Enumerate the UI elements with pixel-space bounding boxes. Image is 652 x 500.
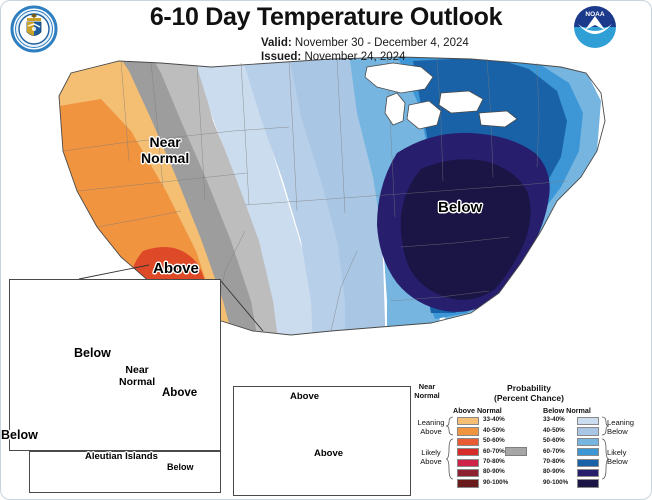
legend-swatch-below-50to60 — [577, 438, 599, 446]
hawaii-above-label-2: Above — [314, 448, 343, 459]
alaska-inset-frame — [9, 279, 221, 451]
legend-range-above-3: 60-70% — [483, 448, 505, 455]
likely-above-line-2: Above — [420, 457, 442, 466]
hawaii-inset-frame — [233, 386, 411, 496]
near-normal-line-1: Near — [150, 134, 181, 150]
legend-range-below-1: 40-50% — [543, 427, 565, 434]
legend-swatch-below-80to90 — [577, 469, 599, 477]
legend-swatch-above-40to50 — [457, 427, 479, 435]
alaska-near-normal-label: Near Normal — [119, 365, 155, 388]
legend-title: Probability (Percent Chance) — [409, 383, 649, 403]
legend-range-above-2: 50-60% — [483, 437, 505, 444]
legend-range-below-3: 60-70% — [543, 448, 565, 455]
leaning-above-line-2: Above — [420, 427, 442, 436]
legend-near-normal-swatch — [505, 447, 527, 456]
outlook-map-page: Near Normal Above Below Below Near Norma… — [0, 0, 652, 500]
legend-range-below-6: 90-100% — [543, 479, 568, 486]
alaska-panhandle-below-label: Below — [1, 428, 38, 442]
legend-swatch-above-90to100 — [457, 479, 479, 487]
band-below-90-100 — [401, 159, 531, 300]
legend-title-line-1: Probability — [507, 383, 551, 393]
legend-range-above-5: 80-90% — [483, 468, 505, 475]
near-normal-line-2: Normal — [141, 150, 189, 166]
aleutian-islands-title: Aleutian Islands — [85, 451, 158, 462]
svg-text:NOAA: NOAA — [585, 11, 604, 18]
hawaii-above-label-1: Above — [290, 391, 319, 402]
legend-swatch-above-33to40 — [457, 417, 479, 425]
legend-swatch-below-33to40 — [577, 417, 599, 425]
legend-likely-below-label: Likely Below — [607, 449, 649, 466]
legend-swatch-above-80to90 — [457, 469, 479, 477]
legend-range-above-4: 70-80% — [483, 458, 505, 465]
legend-likely-above-label: Likely Above — [411, 449, 451, 466]
leaning-below-line-2: Below — [607, 427, 628, 436]
legend-swatch-above-50to60 — [457, 438, 479, 446]
conus-near-normal-label: Near Normal — [141, 134, 189, 166]
legend-range-below-4: 70-80% — [543, 458, 565, 465]
nws-seal-icon — [10, 5, 58, 53]
legend-leaning-below-label: Leaning Below — [607, 419, 649, 436]
legend-range-above-0: 33-40% — [483, 416, 505, 423]
legend-range-below-5: 80-90% — [543, 468, 565, 475]
legend-range-below-0: 33-40% — [543, 416, 565, 423]
noaa-seal-icon: NOAA — [572, 4, 618, 50]
legend-swatch-below-60to70 — [577, 448, 599, 456]
legend-above-header: Above Normal — [453, 406, 502, 415]
legend-below-header: Below Normal — [543, 406, 591, 415]
conus-above-label: Above — [153, 260, 199, 277]
alaska-near-line-1: Near — [125, 364, 148, 376]
probability-legend: Probability (Percent Chance) Above Norma… — [409, 383, 649, 499]
conus-below-label: Below — [438, 199, 482, 216]
legend-title-line-2: (Percent Chance) — [494, 393, 564, 403]
legend-swatch-below-40to50 — [577, 427, 599, 435]
alaska-below-label: Below — [74, 346, 111, 360]
alaska-near-line-2: Normal — [119, 376, 155, 388]
legend-swatch-below-90to100 — [577, 479, 599, 487]
legend-leaning-above-label: Leaning Above — [411, 419, 451, 436]
legend-swatch-below-70to80 — [577, 459, 599, 467]
legend-swatch-above-70to80 — [457, 459, 479, 467]
legend-range-above-6: 90-100% — [483, 479, 508, 486]
likely-below-line-2: Below — [607, 457, 628, 466]
alaska-above-label: Above — [162, 387, 197, 399]
legend-range-above-1: 40-50% — [483, 427, 505, 434]
aleutian-below-label: Below — [167, 462, 194, 472]
legend-swatch-above-60to70 — [457, 448, 479, 456]
legend-range-below-2: 50-60% — [543, 437, 565, 444]
